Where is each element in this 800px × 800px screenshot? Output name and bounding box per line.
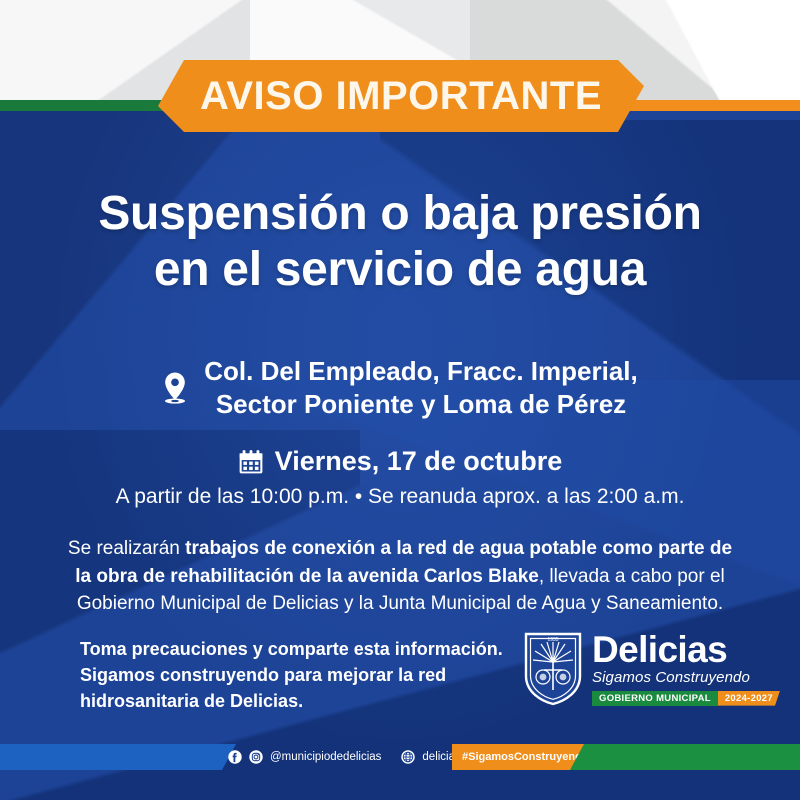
- notice-body: Se realizarán trabajos de conexión a la …: [58, 535, 742, 618]
- logo-subtitle: Sigamos Construyendo: [592, 669, 780, 687]
- badge-term-years: 2024-2027: [718, 691, 780, 706]
- globe-icon[interactable]: [401, 750, 415, 764]
- important-notice-banner: AVISO IMPORTANTE: [158, 60, 644, 132]
- logo-badges: GOBIERNO MUNICIPAL 2024-2027: [592, 691, 780, 706]
- service-time-range: A partir de las 10:00 p.m. • Se reanuda …: [0, 484, 800, 509]
- badge-government: GOBIERNO MUNICIPAL: [592, 691, 718, 706]
- map-pin-icon: [162, 372, 188, 404]
- important-notice-banner-label: AVISO IMPORTANTE: [200, 76, 602, 116]
- delicias-coat-of-arms-icon: 1935: [524, 632, 582, 706]
- social-handle[interactable]: @municipiodedelicias: [270, 751, 381, 763]
- location-row: Col. Del Empleado, Fracc. Imperial, Sect…: [0, 355, 800, 420]
- footer-bar: @municipiodedelicias delicias.gob.mx #Si…: [0, 744, 800, 770]
- date-row: Viernes, 17 de octubre: [0, 448, 800, 475]
- footer-blue-segment: [0, 744, 236, 770]
- service-date: Viernes, 17 de octubre: [275, 448, 563, 475]
- instagram-icon[interactable]: [249, 750, 263, 764]
- closing-message: Toma precauciones y comparte esta inform…: [80, 636, 510, 714]
- affected-areas-text: Col. Del Empleado, Fracc. Imperial, Sect…: [204, 355, 637, 420]
- page-title: Suspensión o baja presión en el servicio…: [0, 186, 800, 298]
- notice-poster: AVISO IMPORTANTE Suspensión o baja presi…: [0, 0, 800, 800]
- calendar-icon: [238, 449, 264, 475]
- facebook-icon[interactable]: [228, 750, 242, 764]
- logo-wordmark: Delicias Sigamos Construyendo GOBIERNO M…: [592, 632, 780, 705]
- svg-text:1935: 1935: [547, 637, 558, 643]
- delicias-logo: 1935 Delicias Sigamos Construyendo GOBIE…: [524, 632, 780, 706]
- notice-body-lead: Se realizarán: [68, 538, 185, 559]
- logo-title: Delicias: [592, 632, 780, 667]
- footer-green-segment: [570, 744, 800, 770]
